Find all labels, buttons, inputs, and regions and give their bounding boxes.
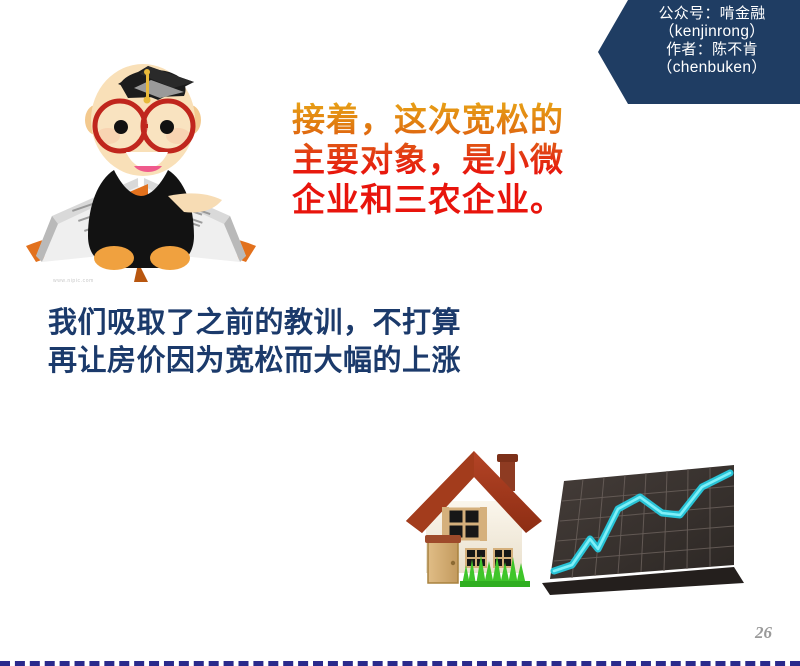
- page-number: 26: [755, 623, 772, 643]
- headline-blue-line-2: 再让房价因为宽松而大幅的上涨: [48, 341, 568, 379]
- headline-red-line-1: 接着，这次宽松的: [292, 100, 592, 140]
- headline-red-line-2: 主要对象，是小微: [292, 140, 592, 180]
- author-banner: 公众号：啃金融 （kenjinrong） 作者：陈不肯 （chenbuken）: [598, 0, 800, 104]
- headline-red-line-3: 企业和三农企业。: [292, 180, 592, 220]
- banner-line-account-id: （kenjinrong）: [632, 23, 792, 41]
- headline-blue-line-1: 我们吸取了之前的教训，不打算: [48, 303, 568, 341]
- scholar-illustration: www.nipic.com: [8, 28, 280, 290]
- headline-red: 接着，这次宽松的 主要对象，是小微 企业和三农企业。: [292, 100, 592, 220]
- house-and-chart-illustration: [404, 443, 744, 601]
- illustration-watermark: www.nipic.com: [53, 278, 94, 284]
- banner-line-author-id: （chenbuken）: [632, 59, 792, 77]
- banner-line-account: 公众号：啃金融: [632, 5, 792, 23]
- slide-canvas: www.nipic.com 公众号：啃金融 （kenjinrong） 作者：陈不…: [0, 0, 800, 666]
- banner-line-author: 作者：陈不肯: [632, 41, 792, 59]
- headline-blue: 我们吸取了之前的教训，不打算 再让房价因为宽松而大幅的上涨: [48, 303, 568, 379]
